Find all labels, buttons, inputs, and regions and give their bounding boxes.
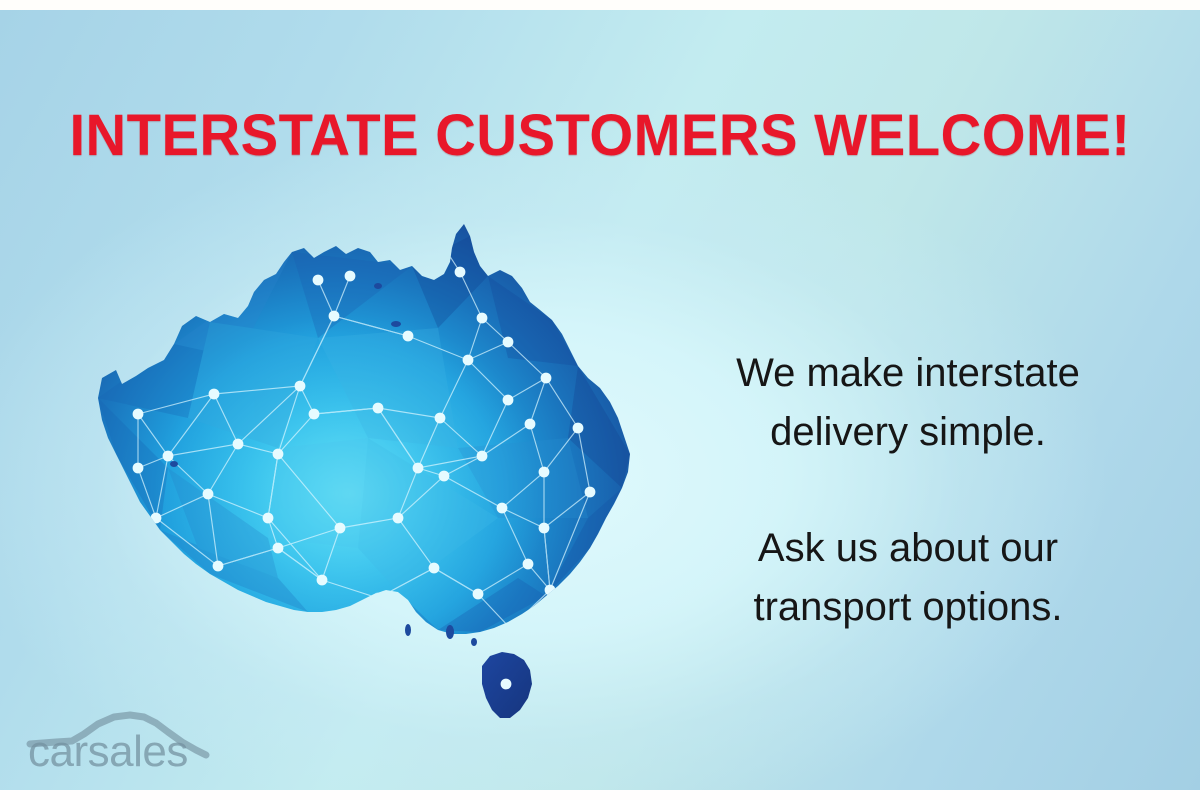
watermark-label: carsales <box>28 727 188 777</box>
australia-network-map-icon <box>78 218 658 748</box>
page-title: INTERSTATE CUSTOMERS WELCOME! <box>18 104 1182 168</box>
copy-spacer <box>666 462 1150 519</box>
body-line-1: We make interstate <box>666 344 1150 403</box>
body-copy: We make interstate delivery simple. Ask … <box>666 344 1150 637</box>
top-edge-strip <box>0 0 1200 10</box>
bottom-edge-strip <box>0 790 1200 800</box>
body-line-4: transport options. <box>666 578 1150 637</box>
body-line-3: Ask us about our <box>666 519 1150 578</box>
tasmania-shape <box>482 652 532 718</box>
body-line-2: delivery simple. <box>666 403 1150 462</box>
banner-image: INTERSTATE CUSTOMERS WELCOME! <box>0 0 1200 800</box>
